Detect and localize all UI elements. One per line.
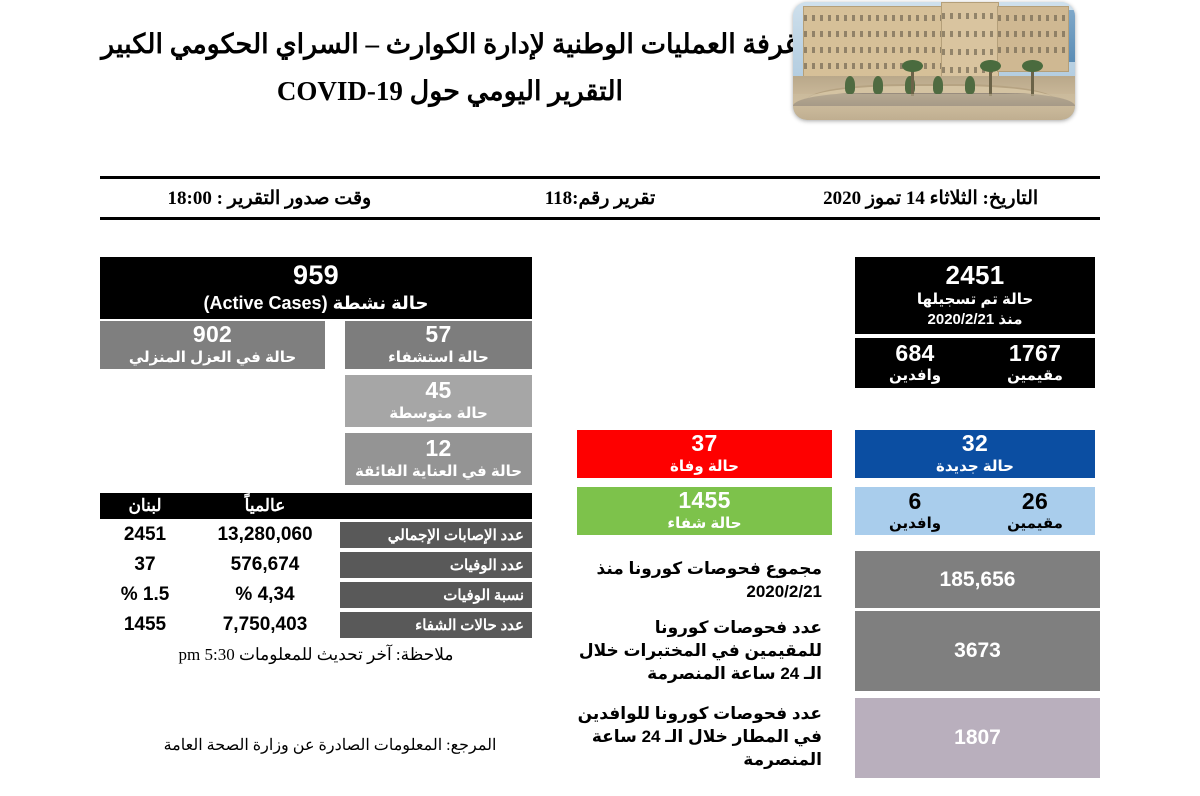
home-isolation-box: 902 حالة في العزل المنزلي (100, 321, 325, 369)
report-meta-band: التاريخ: الثلاثاء 14 تموز 2020 تقرير رقم… (100, 176, 1100, 220)
deaths-box: 37 حالة وفاة (577, 430, 832, 478)
icu-cases-label: حالة في العناية الفائقة (355, 463, 522, 482)
registered-residents: 1767 مقيمين (975, 341, 1095, 384)
world-lebanon-comparison-table: عالمياً لبنان عدد الإصابات الإجمالي 13,2… (100, 493, 532, 639)
registered-expats-value: 684 (895, 341, 934, 365)
last-update-note: ملاحظة: آخر تحديث للمعلومات 5:30 pm (100, 645, 532, 665)
resident-tests-value: 3673 (855, 611, 1100, 691)
comparison-header-lebanon: لبنان (100, 496, 190, 516)
new-cases-value: 32 (962, 431, 988, 456)
total-tests-value: 185,656 (855, 551, 1100, 608)
airport-tests-value: 1807 (855, 698, 1100, 778)
report-number: تقرير رقم:118 (439, 187, 762, 210)
registered-expats-label: وافدين (889, 367, 941, 385)
registered-residents-label: مقيمين (1007, 367, 1063, 385)
comparison-row-lebanon: 1.5 % (100, 584, 190, 606)
covid-daily-report-page: غرفة العمليات الوطنية لإدارة الكوارث – ا… (0, 0, 1200, 796)
recoveries-box: 1455 حالة شفاء (577, 487, 832, 535)
resident-tests-label: عدد فحوصات كورونا للمقيمين في المختبرات … (577, 617, 822, 686)
active-cases-label: حالة نشطة (Active Cases) (204, 292, 429, 315)
comparison-row-lebanon: 37 (100, 554, 190, 576)
new-cases-residents-value: 26 (1022, 489, 1048, 513)
registered-cases-label-1: حالة تم تسجيلها (917, 291, 1033, 310)
registered-cases-box: 2451 حالة تم تسجيلها منذ 2020/2/21 (855, 257, 1095, 334)
hospitalized-label: حالة استشفاء (388, 349, 489, 368)
comparison-row-label: عدد حالات الشفاء (340, 612, 532, 638)
table-row: عدد حالات الشفاء 7,750,403 1455 (100, 611, 532, 639)
new-cases-expats-label: وافدين (889, 515, 941, 533)
recoveries-value: 1455 (678, 488, 730, 513)
comparison-row-label: عدد الإصابات الإجمالي (340, 522, 532, 548)
new-cases-box: 32 حالة جديدة (855, 430, 1095, 478)
comparison-row-world: 13,280,060 (190, 524, 340, 546)
active-cases-value: 959 (293, 261, 339, 291)
moderate-cases-value: 45 (425, 378, 451, 403)
comparison-row-label: نسبة الوفيات (340, 582, 532, 608)
reference-note: المرجع: المعلومات الصادرة عن وزارة الصحة… (120, 735, 540, 755)
table-row: عدد الإصابات الإجمالي 13,280,060 2451 (100, 521, 532, 549)
title-line-1: غرفة العمليات الوطنية لإدارة الكوارث – ا… (101, 29, 799, 59)
registered-expats: 684 وافدين (855, 341, 975, 384)
new-cases-residents: 26 مقيمين (975, 489, 1095, 532)
table-row: عدد الوفيات 576,674 37 (100, 551, 532, 579)
photo-reflection (793, 94, 1075, 120)
new-cases-expats: 6 وافدين (855, 489, 975, 532)
new-cases-label: حالة جديدة (936, 458, 1014, 477)
hospitalized-box: 57 حالة استشفاء (345, 321, 532, 369)
table-row: نسبة الوفيات 4,34 % 1.5 % (100, 581, 532, 609)
active-cases-box: 959 حالة نشطة (Active Cases) (100, 257, 532, 319)
comparison-table-header: عالمياً لبنان (100, 493, 532, 519)
moderate-cases-box: 45 حالة متوسطة (345, 375, 532, 427)
comparison-row-lebanon: 1455 (100, 614, 190, 636)
new-cases-split-box: 26 مقيمين 6 وافدين (855, 487, 1095, 535)
hospitalized-value: 57 (425, 322, 451, 347)
comparison-row-world: 4,34 % (190, 584, 340, 606)
grand-serail-photo (793, 2, 1075, 120)
total-tests-label: مجموع فحوصات كورونا منذ 2020/2/21 (577, 558, 822, 604)
comparison-row-label: عدد الوفيات (340, 552, 532, 578)
deaths-value: 37 (691, 431, 717, 456)
icu-cases-value: 12 (425, 436, 451, 461)
recoveries-label: حالة شفاء (667, 515, 741, 534)
comparison-row-world: 7,750,403 (190, 614, 340, 636)
report-issue-time: وقت صدور التقرير : 18:00 (100, 187, 439, 210)
comparison-row-world: 576,674 (190, 554, 340, 576)
deaths-label: حالة وفاة (670, 458, 739, 477)
comparison-row-lebanon: 2451 (100, 524, 190, 546)
home-isolation-label: حالة في العزل المنزلي (129, 349, 296, 368)
registered-cases-value: 2451 (945, 261, 1004, 290)
report-date: التاريخ: الثلاثاء 14 تموز 2020 (761, 187, 1100, 210)
new-cases-residents-label: مقيمين (1007, 515, 1063, 533)
registered-split-box: 1767 مقيمين 684 وافدين (855, 338, 1095, 388)
airport-tests-label: عدد فحوصات كورونا للوافدين في المطار خلا… (577, 703, 822, 772)
registered-cases-label-2: منذ 2020/2/21 (928, 311, 1023, 330)
new-cases-expats-value: 6 (908, 489, 921, 513)
page-title: غرفة العمليات الوطنية لإدارة الكوارث – ا… (100, 24, 800, 111)
title-line-2: التقرير اليومي حول COVID-19 (100, 71, 800, 112)
icu-cases-box: 12 حالة في العناية الفائقة (345, 433, 532, 485)
moderate-cases-label: حالة متوسطة (389, 405, 488, 424)
home-isolation-value: 902 (193, 322, 232, 347)
comparison-header-world: عالمياً (190, 496, 340, 516)
registered-residents-value: 1767 (1009, 341, 1061, 365)
